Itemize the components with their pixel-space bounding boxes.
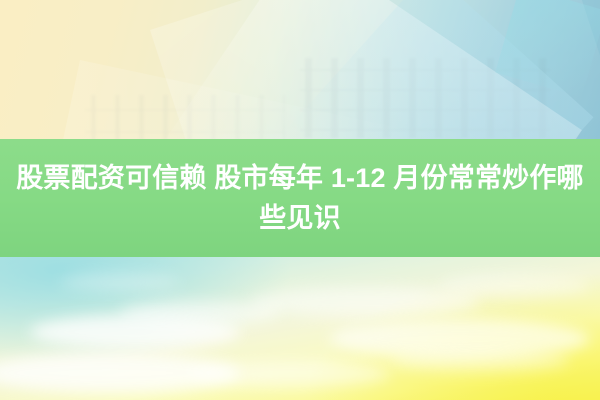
sky-cyan-tint [0,257,300,367]
poster-image: 股票配资可信赖 股市每年 1-12 月份常常炒作哪些见识 [0,0,600,400]
sky-yellow-tint [300,270,600,400]
faint-table-watermark [300,58,550,138]
top-gradient-scene [0,0,600,139]
faint-table-watermark-secondary [85,95,285,139]
bottom-sky-scene [0,257,600,400]
poster-title: 股票配资可信赖 股市每年 1-12 月份常常炒作哪些见识 [16,158,584,238]
title-banner: 股票配资可信赖 股市每年 1-12 月份常常炒作哪些见识 [0,139,600,257]
